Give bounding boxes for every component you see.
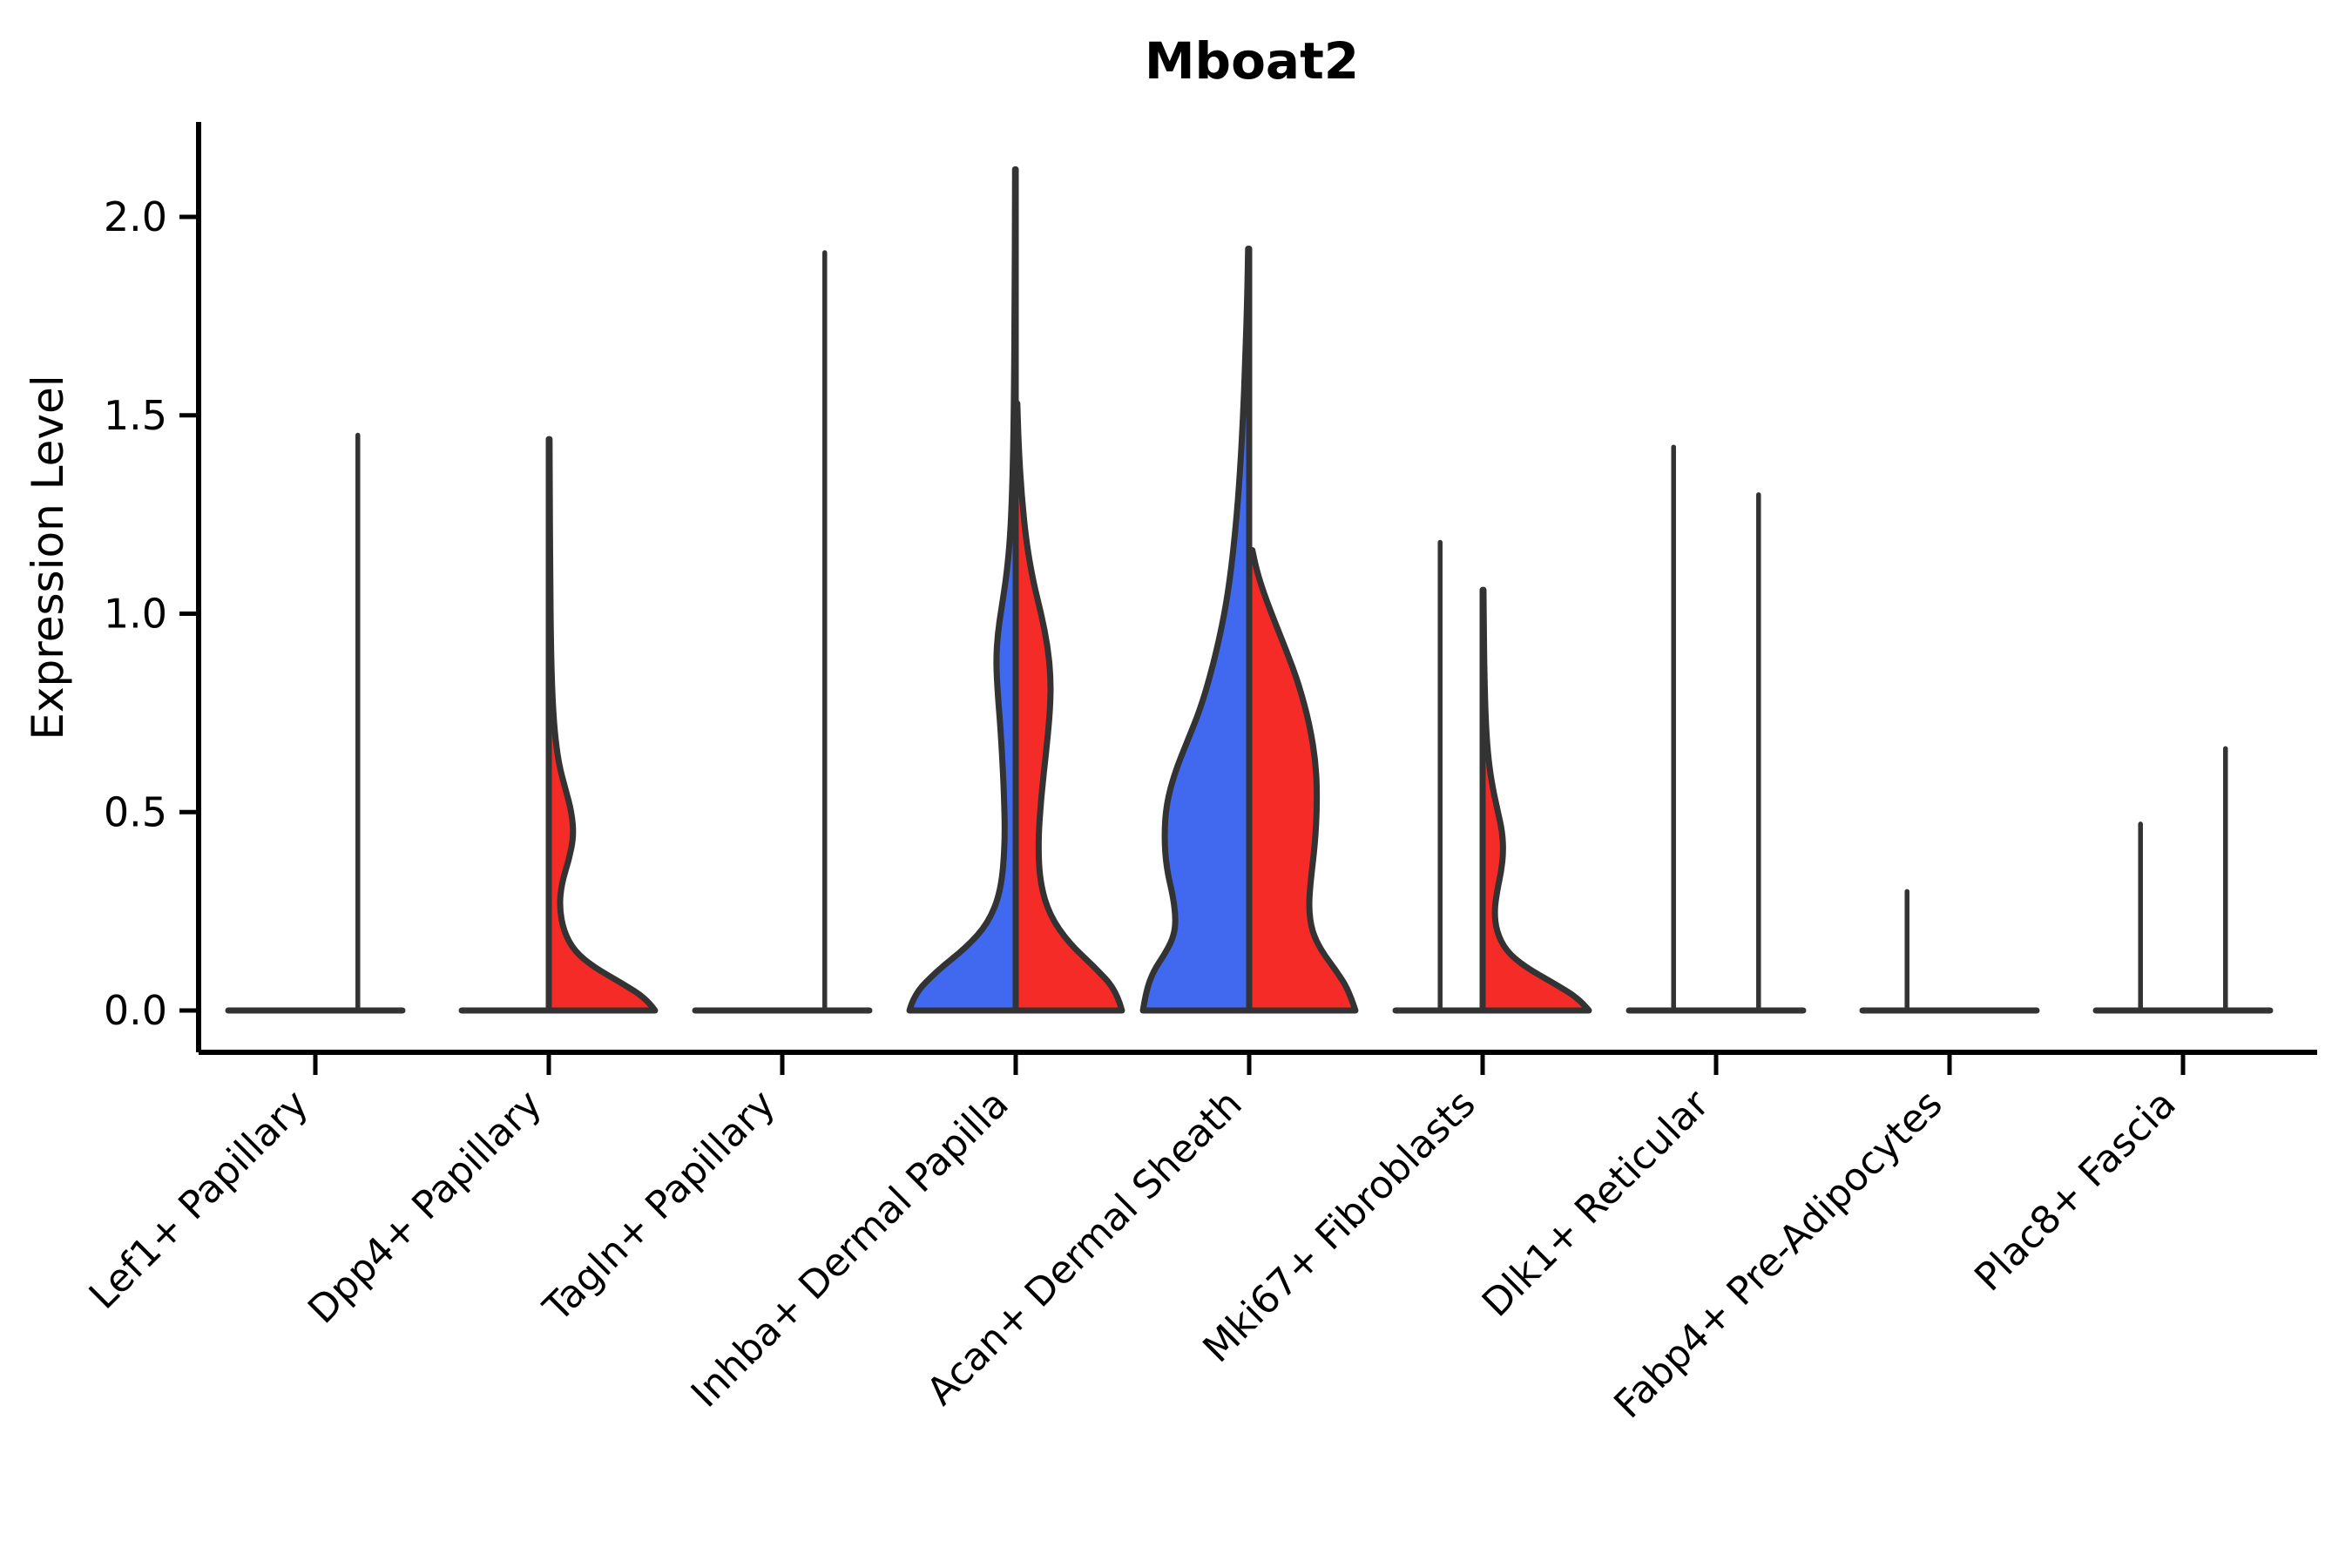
plot-canvas: Mboat2 Expression Level 0.00.51.01.52.0 … [0, 0, 2352, 1568]
y-axis-label: Expression Level [23, 375, 73, 740]
y-tick-label: 1.5 [104, 392, 167, 439]
page-title: Mboat2 [1145, 31, 1359, 91]
y-tick-label: 2.0 [104, 193, 167, 240]
y-tick-label: 0.0 [104, 987, 167, 1034]
y-tick-label: 0.5 [104, 788, 167, 835]
violin-plot-figure: Mboat2 Expression Level 0.00.51.01.52.0 … [0, 0, 2352, 1568]
y-tick-label: 1.0 [104, 591, 167, 638]
